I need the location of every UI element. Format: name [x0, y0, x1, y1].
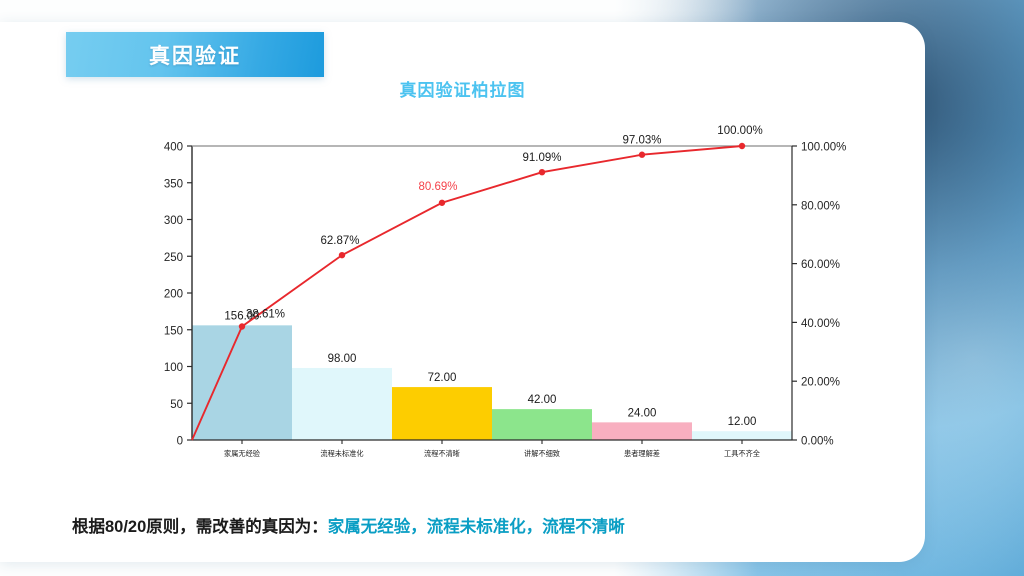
x-axis-category-label-5: 工具不齐全 — [724, 449, 761, 458]
pareto-chart: 0501001502002503003504000.00%20.00%40.00… — [150, 118, 870, 488]
right-axis-tick-label: 80.00% — [801, 200, 840, 212]
bar-value-label-1: 98.00 — [328, 353, 357, 365]
chart-title: 真因验证柏拉图 — [0, 76, 925, 101]
conclusion-text: 根据80/20原则，需改善的真因为：家属无经验，流程未标准化，流程不清晰 — [72, 513, 625, 537]
left-axis-tick-label: 50 — [170, 399, 183, 411]
bar-value-label-2: 72.00 — [428, 372, 457, 384]
x-axis-category-label-3: 讲解不细致 — [524, 449, 560, 458]
bar-3 — [492, 409, 592, 440]
cumulative-value-label-0: 38.61% — [246, 308, 285, 320]
bar-1 — [292, 368, 392, 440]
x-axis-category-label-0: 家属无经验 — [224, 449, 260, 458]
bar-value-label-3: 42.00 — [528, 394, 557, 406]
right-axis-tick-label: 0.00% — [801, 436, 834, 448]
left-axis-tick-label: 150 — [164, 325, 183, 337]
bar-value-label-4: 24.00 — [628, 407, 657, 419]
x-axis-category-label-4: 患者理解差 — [624, 449, 660, 458]
right-axis-tick-label: 20.00% — [801, 377, 840, 389]
bar-5 — [692, 431, 792, 440]
cumulative-point-3 — [539, 169, 545, 175]
left-axis-tick-label: 100 — [164, 362, 183, 374]
x-axis-category-label-1: 流程未标准化 — [320, 449, 363, 458]
left-axis-tick-label: 0 — [177, 436, 183, 448]
bar-value-label-5: 12.00 — [728, 416, 757, 428]
conclusion-prefix: 根据80/20原则，需改善的真因为： — [72, 518, 328, 536]
right-axis-tick-label: 60.00% — [801, 259, 840, 271]
left-axis-tick-label: 400 — [164, 142, 183, 154]
cumulative-point-1 — [339, 252, 345, 258]
left-axis-tick-label: 350 — [164, 178, 183, 190]
x-axis-category-label-2: 流程不清晰 — [424, 449, 460, 458]
right-axis-tick-label: 100.00% — [801, 142, 846, 154]
right-axis-tick-label: 40.00% — [801, 318, 840, 330]
cumulative-value-label-3: 91.09% — [522, 152, 561, 164]
left-axis-tick-label: 200 — [164, 289, 183, 301]
cumulative-point-0 — [239, 323, 245, 329]
cumulative-point-2 — [439, 200, 445, 206]
cumulative-point-5 — [739, 143, 745, 149]
left-axis-tick-label: 300 — [164, 215, 183, 227]
section-title-text: 真因验证 — [149, 40, 241, 70]
cumulative-point-4 — [639, 152, 645, 158]
bar-4 — [592, 422, 692, 440]
left-axis-tick-label: 250 — [164, 252, 183, 264]
conclusion-highlight: 家属无经验，流程未标准化，流程不清晰 — [328, 518, 625, 536]
cumulative-value-label-1: 62.87% — [320, 235, 359, 247]
pareto-chart-svg: 0501001502002503003504000.00%20.00%40.00… — [150, 118, 870, 488]
cumulative-value-label-5: 100.00% — [717, 125, 762, 137]
cumulative-value-label-4: 97.03% — [622, 135, 661, 147]
bar-0 — [192, 325, 292, 440]
section-title-banner: 真因验证 — [66, 32, 324, 77]
cumulative-value-label-2: 80.69% — [418, 181, 457, 193]
bar-2 — [392, 387, 492, 440]
